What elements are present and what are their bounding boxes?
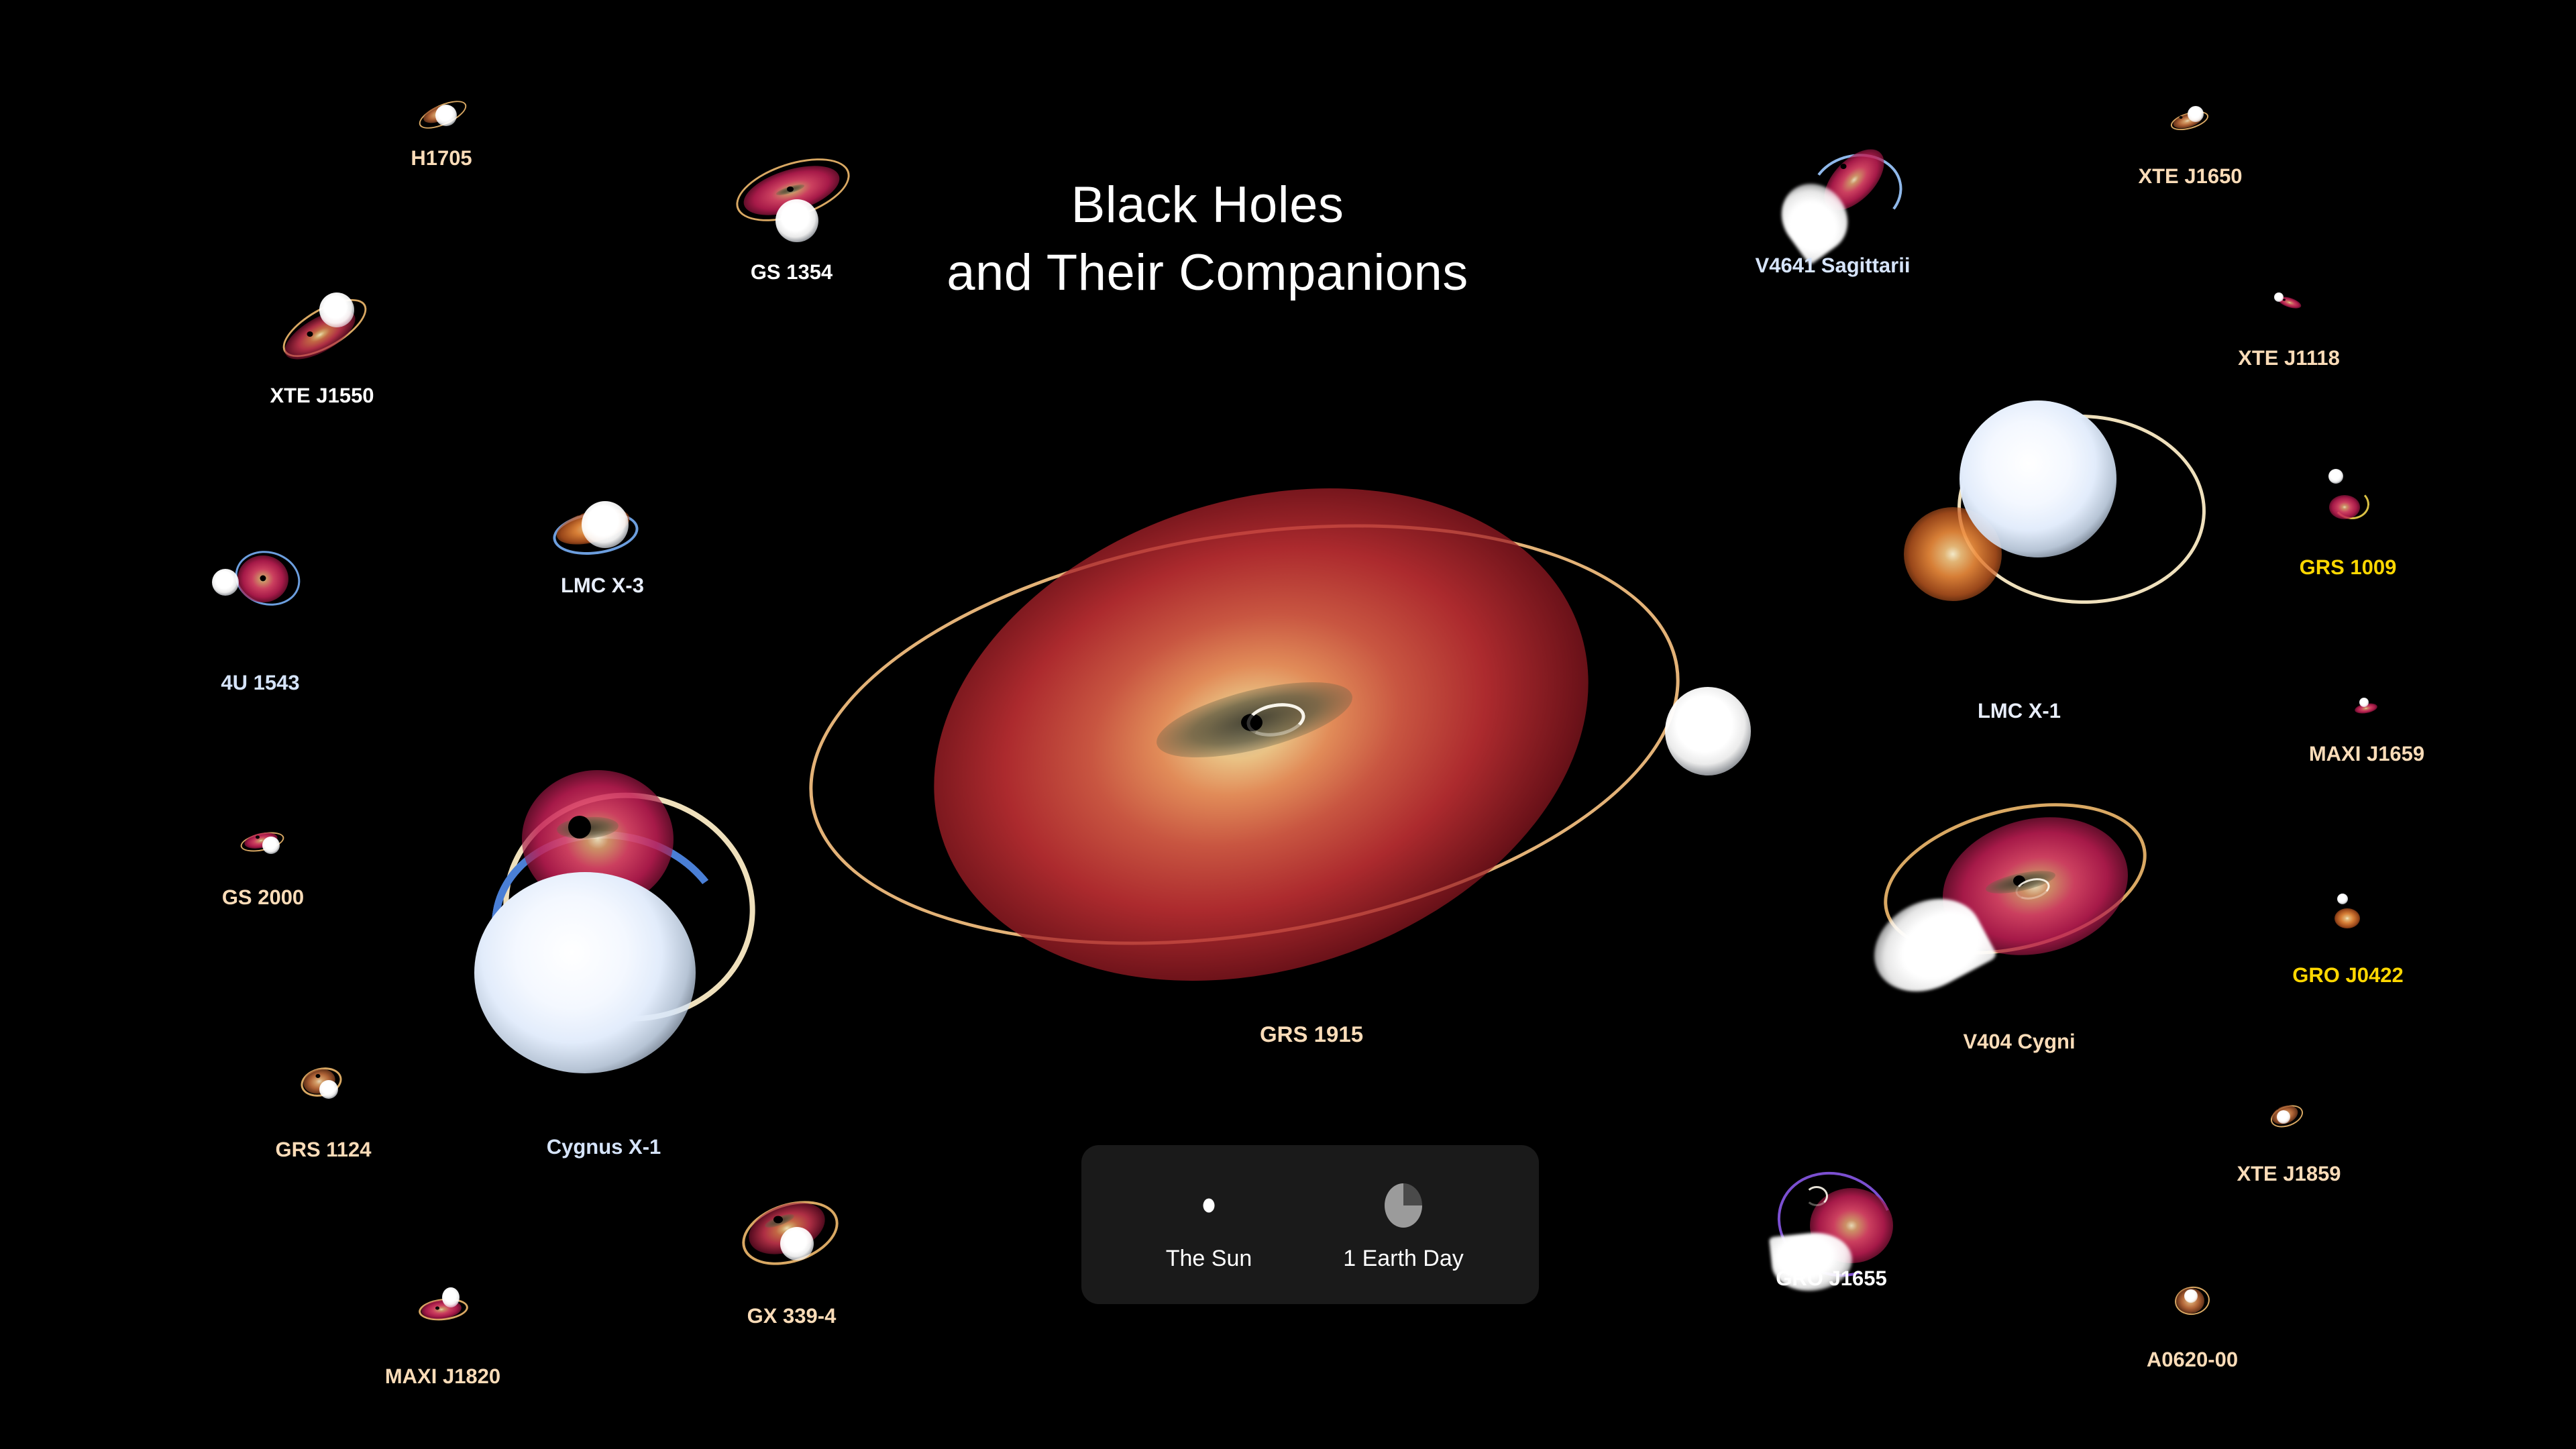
companion-star: [2188, 106, 2204, 122]
system-label-grs-1124: GRS 1124: [275, 1138, 371, 1162]
black-hole-systems-canvas: Black Holes and Their Companions H1705 G…: [0, 0, 2576, 1449]
system-label-h1705: H1705: [411, 146, 472, 170]
black-hole: [773, 1216, 783, 1224]
system-label-xte-j1650: XTE J1650: [2138, 164, 2242, 189]
legend-item-sun: The Sun: [1122, 1145, 1296, 1304]
companion-star: [2277, 1110, 2290, 1124]
system-label-gro-j0422: GRO J0422: [2292, 963, 2403, 987]
black-hole: [2180, 116, 2183, 119]
black-hole: [422, 112, 425, 115]
system-label-gs-1354: GS 1354: [751, 260, 833, 284]
black-hole: [2174, 1286, 2179, 1291]
companion-star: [262, 837, 280, 854]
black-hole: [1841, 164, 1847, 169]
companion-star: [2328, 469, 2343, 484]
black-hole: [307, 331, 313, 337]
legend-caption-sun: The Sun: [1166, 1246, 1252, 1272]
companion-star: [582, 501, 629, 548]
accretion-disk: [2329, 495, 2360, 519]
system-label-grs-1915: GRS 1915: [1260, 1022, 1363, 1047]
system-label-cygnus-x-1: Cygnus X-1: [547, 1135, 661, 1159]
system-label-xte-j1859: XTE J1859: [2237, 1162, 2341, 1186]
black-hole: [1898, 503, 1909, 514]
system-label-v404-cygni: V404 Cygni: [1963, 1030, 2075, 1054]
black-hole: [568, 816, 591, 839]
system-label-grs-1009: GRS 1009: [2300, 555, 2397, 580]
companion-star: [435, 105, 457, 126]
black-hole: [316, 1074, 321, 1078]
system-label-a0620-00: A0620-00: [2147, 1348, 2238, 1372]
legend-caption-earth-day: 1 Earth Day: [1343, 1246, 1464, 1272]
companion-star: [2359, 698, 2369, 707]
black-hole: [2332, 906, 2337, 910]
scale-legend-panel: The Sun 1 Earth Day: [1081, 1145, 1539, 1304]
companion-star: [2274, 292, 2284, 302]
companion-star: [442, 1287, 460, 1307]
system-label-gro-j1655: GRO J1655: [1776, 1267, 1886, 1291]
page-title: Black Holes and Their Companions: [926, 171, 1489, 307]
system-label-gs-2000: GS 2000: [222, 885, 304, 910]
companion-star: [2184, 1289, 2198, 1303]
black-hole: [787, 186, 794, 192]
accretion-disk: [2334, 908, 2360, 928]
black-hole: [2275, 1106, 2279, 1110]
system-label-maxi-j1659: MAXI J1659: [2309, 742, 2424, 766]
black-hole: [2283, 299, 2286, 301]
black-hole: [256, 836, 260, 839]
black-hole: [435, 1307, 439, 1310]
sun-dot-icon: [1203, 1199, 1215, 1213]
black-hole: [575, 510, 582, 516]
system-label-v4641-sagittarii: V4641 Sagittarii: [1756, 254, 1911, 278]
system-label-gx-339-4: GX 339-4: [747, 1304, 837, 1328]
black-hole: [2351, 703, 2353, 705]
earth-day-pie-icon: [1385, 1183, 1422, 1228]
inner-accretion-ring: [1805, 1186, 1828, 1206]
companion-star: [775, 199, 818, 242]
companion-star: [319, 1080, 338, 1099]
companion-star: [212, 569, 239, 596]
companion-star: [1665, 687, 1751, 775]
companion-star: [319, 292, 354, 327]
system-label-xte-j1118: XTE J1118: [2238, 346, 2340, 370]
companion-star: [780, 1227, 814, 1260]
system-label-xte-j1550: XTE J1550: [270, 384, 374, 408]
black-hole: [2327, 494, 2332, 499]
companion-star: [1960, 400, 2116, 557]
system-label-lmc-x-1: LMC X-1: [1978, 699, 2061, 723]
black-hole: [260, 576, 266, 582]
system-label-maxi-j1820: MAXI J1820: [385, 1364, 500, 1389]
system-label-4u-1543: 4U 1543: [221, 671, 299, 695]
companion-star: [474, 872, 696, 1073]
legend-item-earth-day: 1 Earth Day: [1309, 1145, 1497, 1304]
companion-star: [2337, 894, 2348, 904]
system-label-lmc-x-3: LMC X-3: [561, 574, 644, 598]
